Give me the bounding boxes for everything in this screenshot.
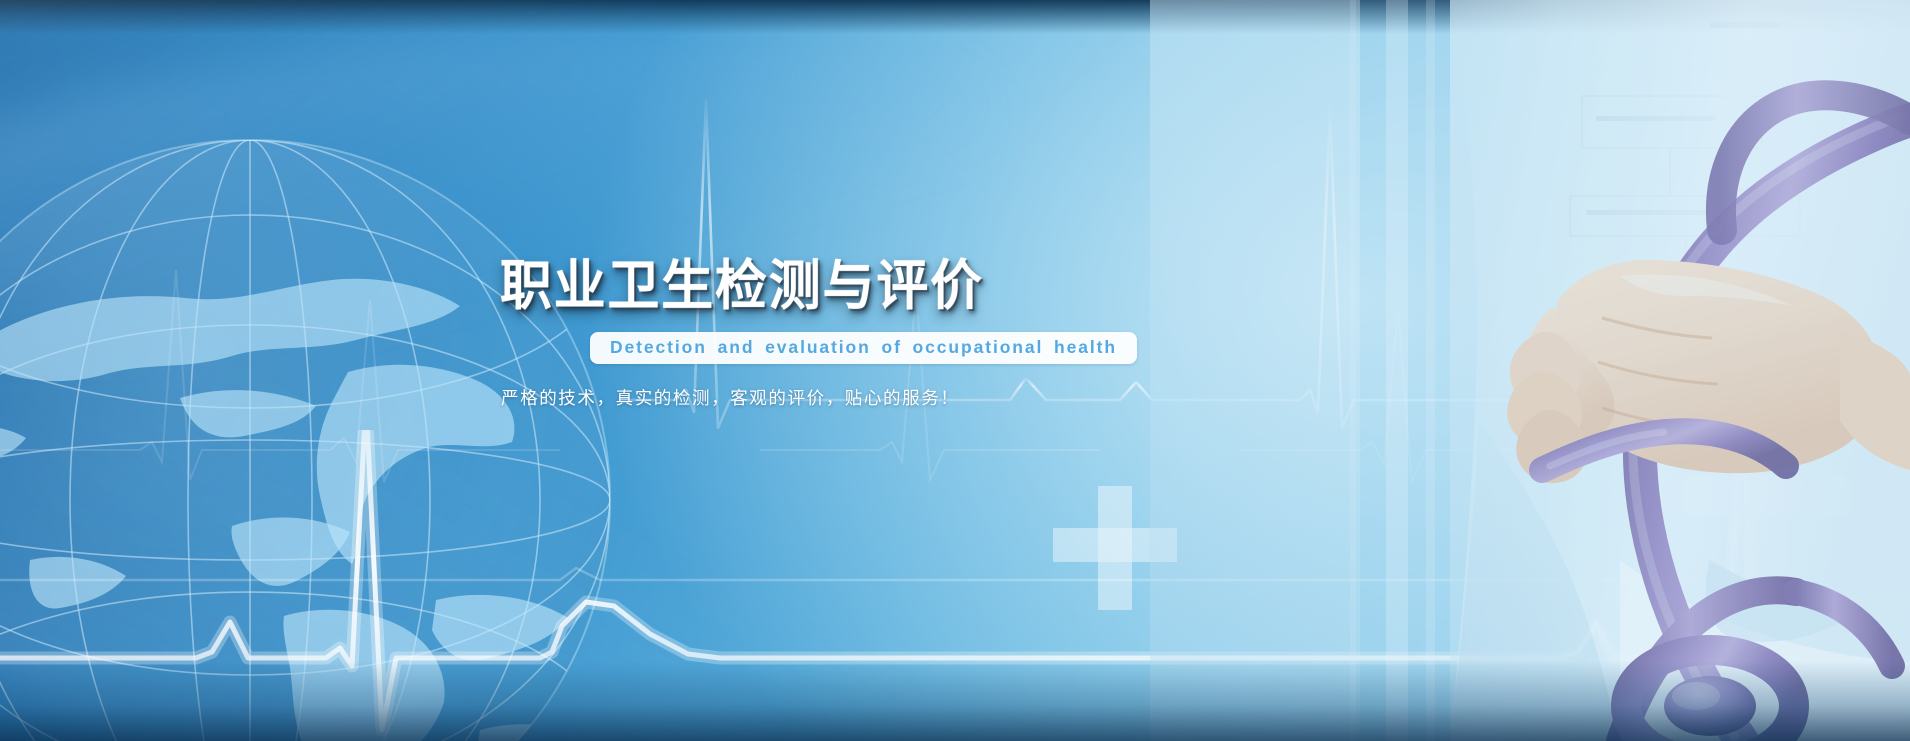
globe-icon — [0, 130, 620, 741]
english-subtitle-pill: Detection and evaluation of occupational… — [590, 332, 1137, 364]
ecg-main-trace — [0, 430, 1910, 741]
tagline: 严格的技术，真实的检测，客观的评价，贴心的服务！ — [501, 385, 1140, 410]
page-title: 职业卫生检测与评价 — [500, 258, 1114, 314]
medical-cross-icon-center — [1053, 486, 1177, 610]
banner-copy: 职业卫生检测与评价 Detection and evaluation of oc… — [500, 258, 1140, 410]
bottom-shade-overlay — [0, 661, 1910, 741]
medical-cross-icon-right — [1682, 417, 1850, 585]
doctor-hand-stethoscope-photo — [1150, 0, 1910, 741]
english-subtitle: Detection and evaluation of occupational… — [610, 337, 1117, 358]
occupational-health-banner: 职业卫生检测与评价 Detection and evaluation of oc… — [0, 0, 1910, 741]
top-shade-overlay — [0, 0, 1910, 34]
